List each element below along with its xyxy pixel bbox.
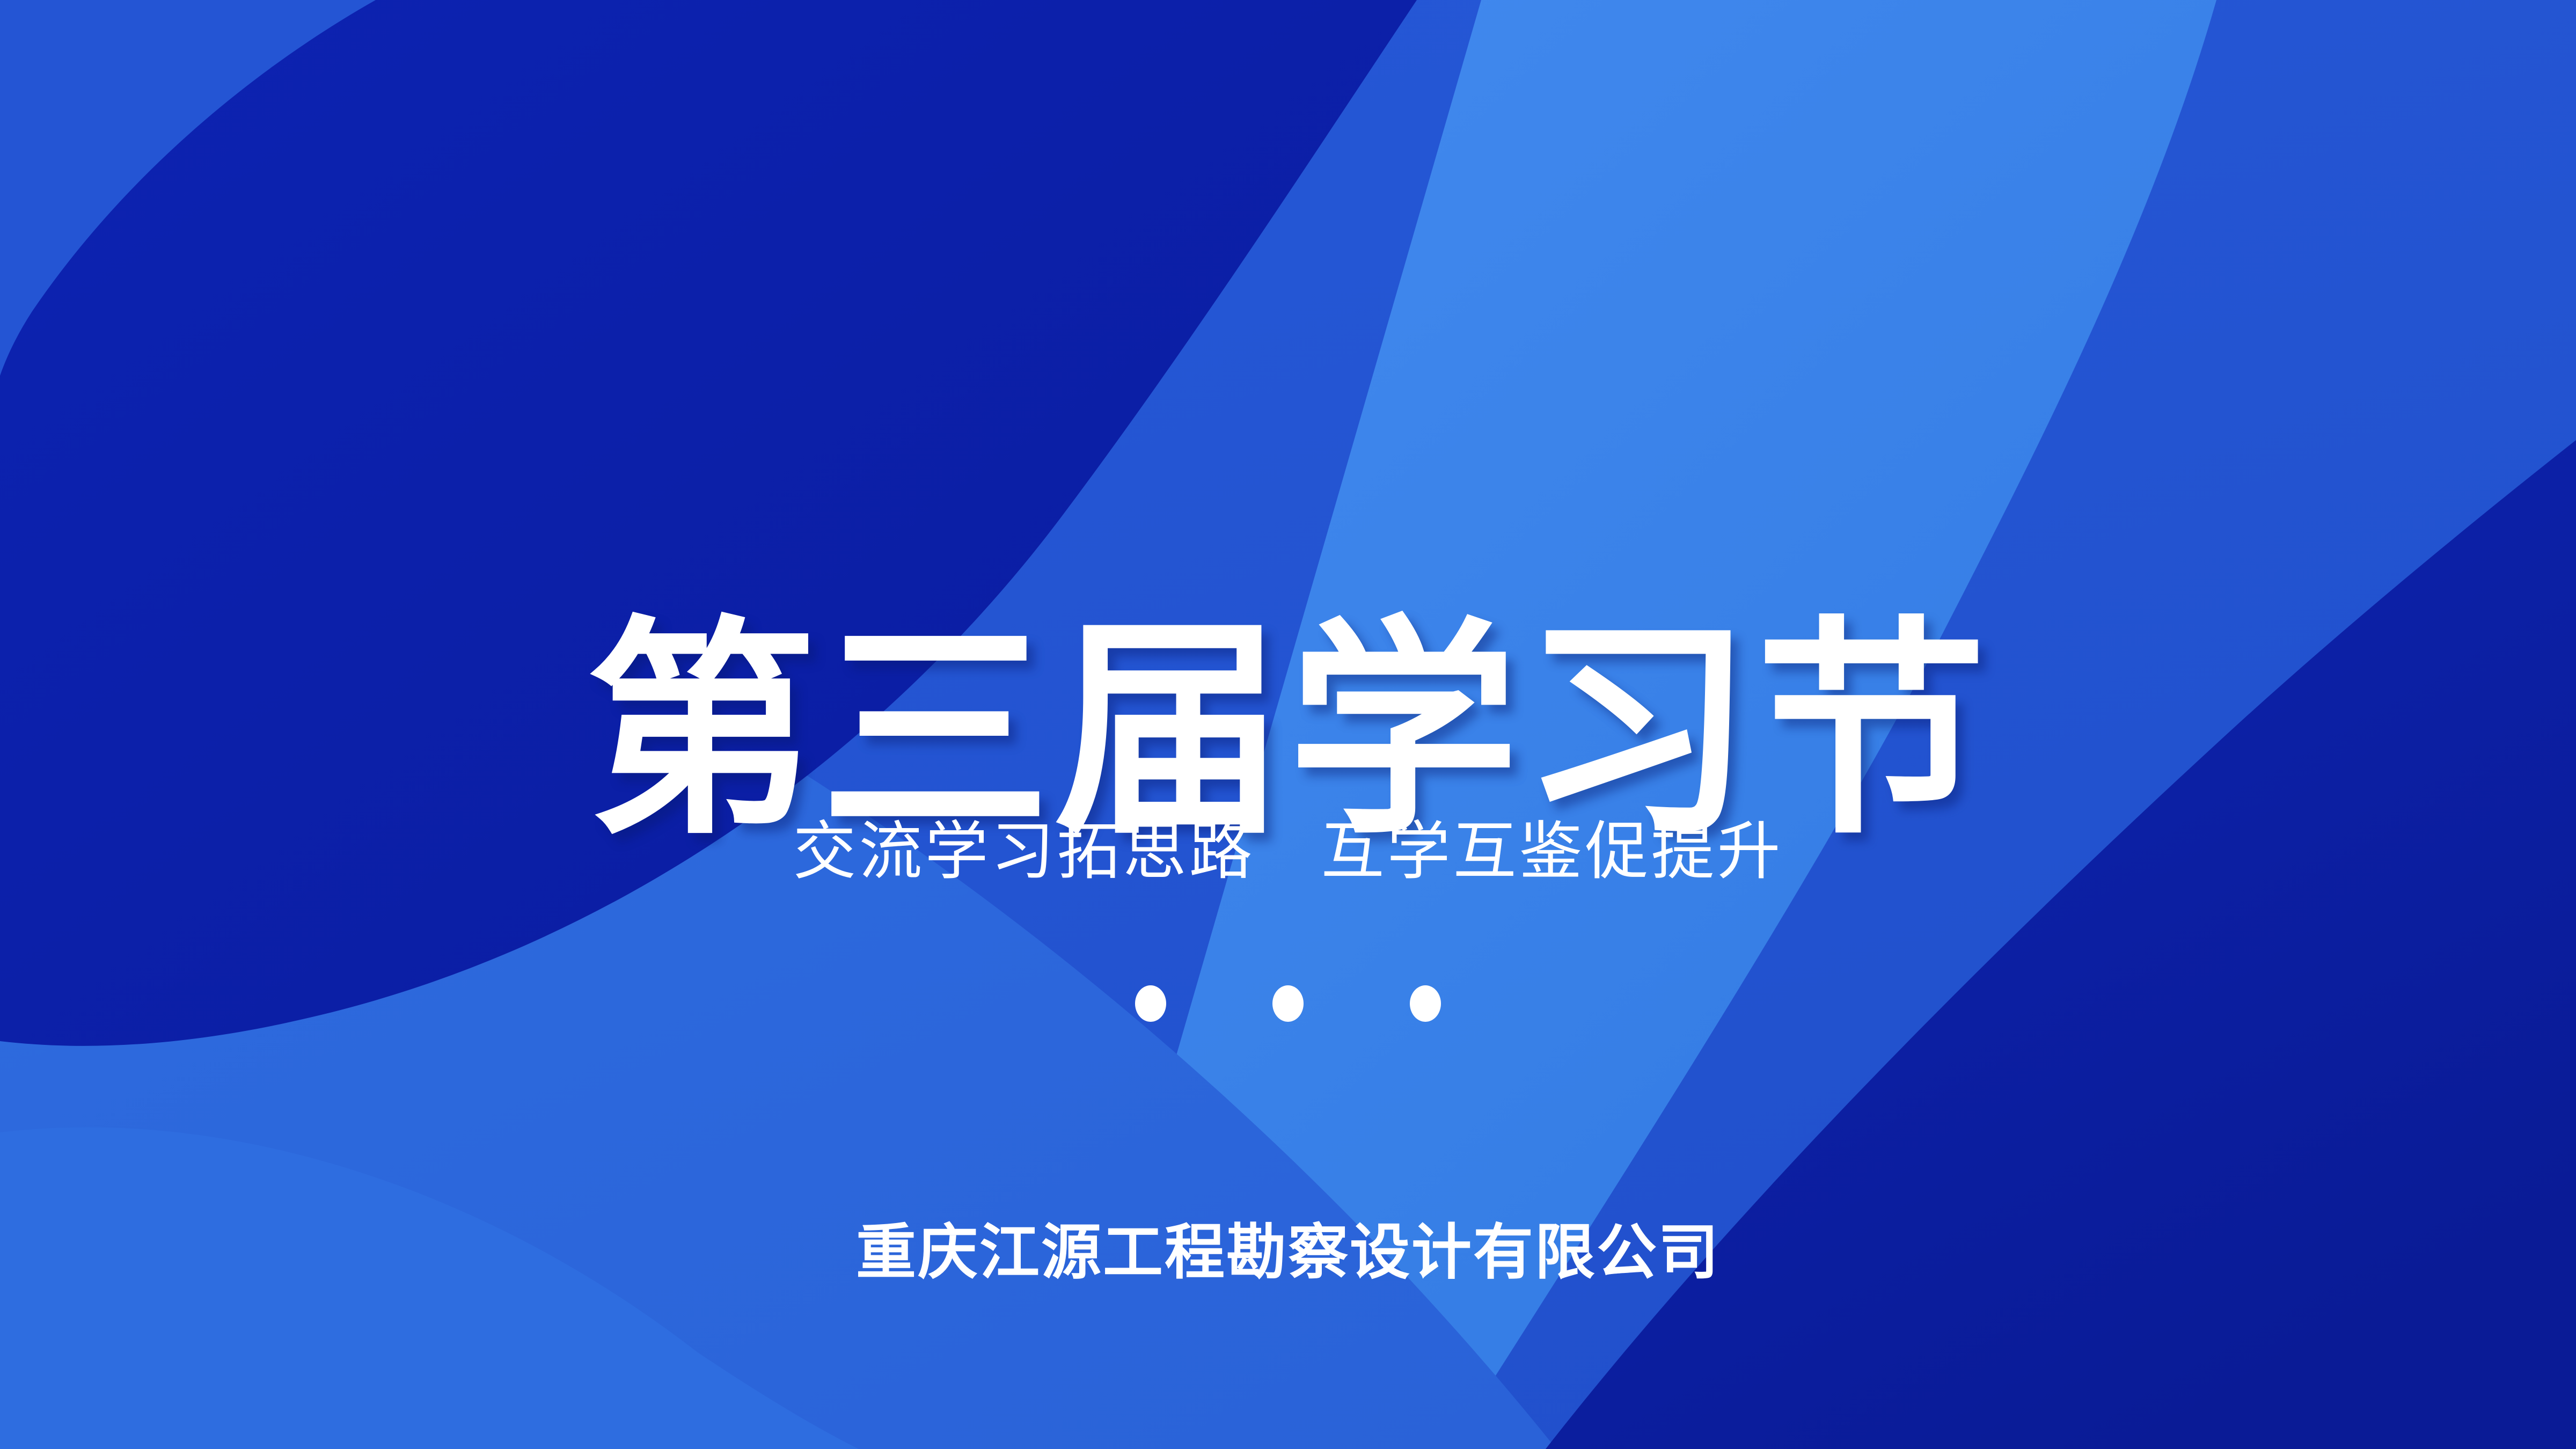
three-dots-decoration [0, 985, 2576, 1022]
poster-canvas: 第三届学习节 交流学习拓思路 互学互鉴促提升 重庆江源工程勘察设计有限公司 [0, 0, 2576, 1449]
organization-name: 重庆江源工程勘察设计有限公司 [0, 1219, 2576, 1285]
dot-icon [1410, 985, 1441, 1022]
dot-icon [1135, 985, 1166, 1022]
poster-subtitle: 交流学习拓思路 互学互鉴促提升 [0, 816, 2576, 889]
poster-content: 第三届学习节 交流学习拓思路 互学互鉴促提升 重庆江源工程勘察设计有限公司 [0, 0, 2576, 1449]
page-title: 第三届学习节 [0, 616, 2576, 847]
dot-icon [1272, 985, 1304, 1022]
